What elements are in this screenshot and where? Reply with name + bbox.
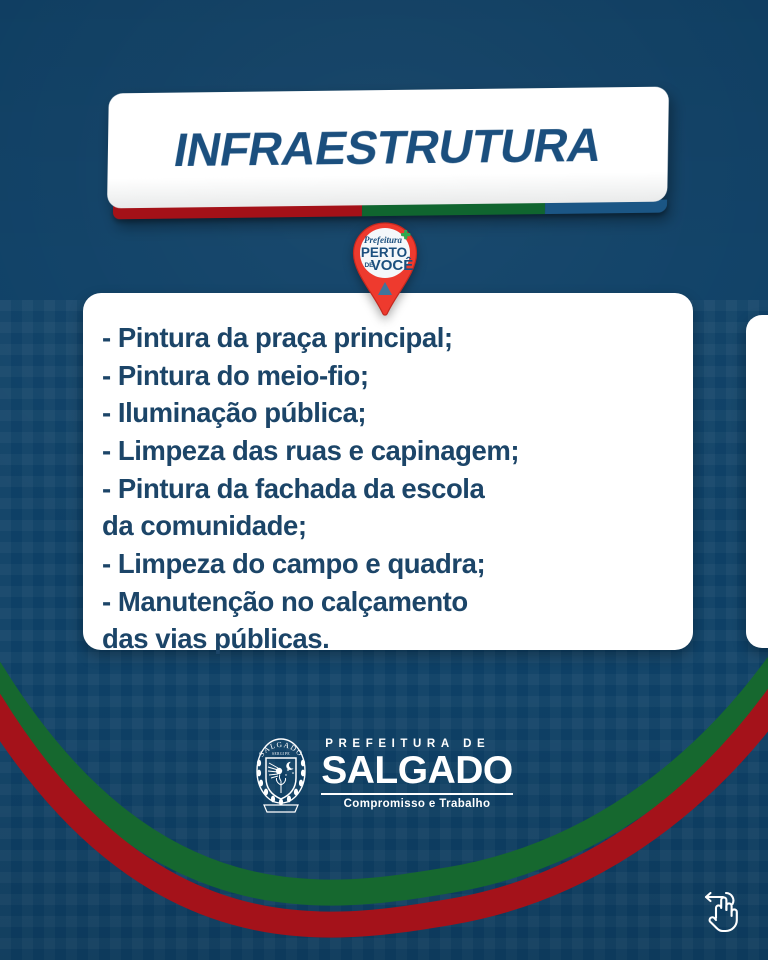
coat-of-arms-icon: SALGADO SERGIPE (255, 733, 307, 815)
header-banner: INFRAESTRUTURA (107, 87, 669, 209)
brand-wordmark: PREFEITURA DE SALGADO Compromisso e Trab… (321, 738, 513, 810)
pin-line-voce: VOCÊ (371, 256, 414, 274)
list-item: - Limpeza do campo e quadra; (102, 545, 679, 583)
list-item: - Pintura da praça principal; (102, 319, 679, 357)
swipe-left-hand-icon[interactable] (696, 884, 750, 938)
brand-divider (321, 793, 513, 795)
list-item: - Manutenção no calçamento (102, 583, 679, 621)
crest-sub-text: SERGIPE (272, 752, 290, 756)
banner-plate: INFRAESTRUTURA (107, 87, 669, 209)
list-item: - Pintura da fachada da escola (102, 470, 679, 508)
list-item: - Limpeza das ruas e capinagem; (102, 432, 679, 470)
pin-line-prefeitura: Prefeitura (364, 235, 402, 245)
list-item: - Iluminação pública; (102, 394, 679, 432)
map-pin-logo: Prefeitura PERTO DE VOCÊ (352, 222, 418, 316)
infrastructure-list: - Pintura da praça principal; - Pintura … (102, 319, 679, 658)
brand-slogan: Compromisso e Trabalho (321, 798, 513, 810)
footer-brand: SALGADO SERGIPE (0, 733, 768, 815)
brand-city-name: SALGADO (321, 751, 513, 790)
poster-canvas: INFRAESTRUTURA - Pintura da praça princi… (0, 0, 768, 960)
content-card: - Pintura da praça principal; - Pintura … (83, 293, 693, 650)
list-item: das vias públicas. (102, 620, 679, 658)
list-item: - Pintura do meio-fio; (102, 357, 679, 395)
page-title: INFRAESTRUTURA (107, 115, 669, 177)
list-item: da comunidade; (102, 507, 679, 545)
next-slide-card[interactable] (746, 315, 768, 648)
